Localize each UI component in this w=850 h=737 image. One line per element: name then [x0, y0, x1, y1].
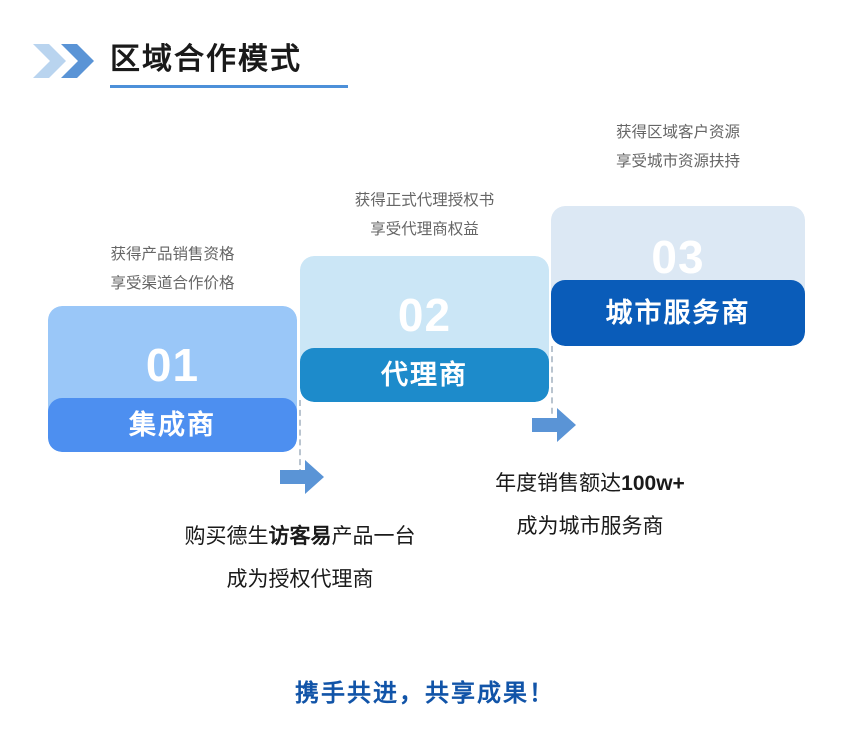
- step-note-2: 年度销售额达100w+ 成为城市服务商: [440, 462, 740, 548]
- step-caption-3-line1: 获得区域客户资源: [552, 118, 804, 147]
- step-caption-3: 获得区域客户资源 享受城市资源扶持: [552, 118, 804, 176]
- arrow-right-icon: [532, 408, 576, 442]
- step-caption-2-line2: 享受代理商权益: [304, 215, 545, 244]
- step-note-1-line1: 购买德生访客易产品一台: [150, 515, 450, 558]
- step-card-3[interactable]: 03 城市服务商: [551, 206, 805, 346]
- step-note-1-prefix: 购买德生: [185, 525, 269, 548]
- step-number-3: 03: [551, 234, 805, 280]
- step-number-1: 01: [48, 342, 297, 388]
- double-chevron-icon: [33, 43, 101, 79]
- step-note-2-line2: 成为城市服务商: [440, 505, 740, 548]
- step-card-2[interactable]: 02 代理商: [300, 256, 549, 402]
- step-caption-1: 获得产品销售资格 享受渠道合作价格: [52, 240, 293, 298]
- step-note-1: 购买德生访客易产品一台 成为授权代理商: [150, 515, 450, 601]
- step-role-3: 城市服务商: [551, 280, 805, 346]
- step-note-2-prefix: 年度销售额达: [495, 472, 621, 495]
- step-caption-2-line1: 获得正式代理授权书: [304, 186, 545, 215]
- step-caption-3-line2: 享受城市资源扶持: [552, 147, 804, 176]
- step-note-1-strong: 访客易: [269, 525, 332, 548]
- step-card-1[interactable]: 01 集成商: [48, 306, 297, 452]
- step-caption-2: 获得正式代理授权书 享受代理商权益: [304, 186, 545, 244]
- step-role-1: 集成商: [48, 398, 297, 452]
- step-role-2: 代理商: [300, 348, 549, 402]
- step-caption-1-line2: 享受渠道合作价格: [52, 269, 293, 298]
- step-number-2: 02: [300, 292, 549, 338]
- arrow-right-icon: [280, 460, 324, 494]
- step-note-2-line1: 年度销售额达100w+: [440, 462, 740, 505]
- page-title: 区域合作模式: [110, 42, 302, 78]
- footer-slogan: 携手共进，共享成果！: [0, 673, 850, 708]
- step-note-1-suffix: 产品一台: [332, 525, 416, 548]
- step-caption-1-line1: 获得产品销售资格: [52, 240, 293, 269]
- page-header: 区域合作模式: [0, 0, 850, 100]
- step-note-2-strong: 100w+: [621, 472, 685, 495]
- title-underline: [110, 85, 348, 88]
- step-note-1-line2: 成为授权代理商: [150, 558, 450, 601]
- infographic-page: 区域合作模式 获得产品销售资格 享受渠道合作价格 获得正式代理授权书 享受代理商…: [0, 0, 850, 737]
